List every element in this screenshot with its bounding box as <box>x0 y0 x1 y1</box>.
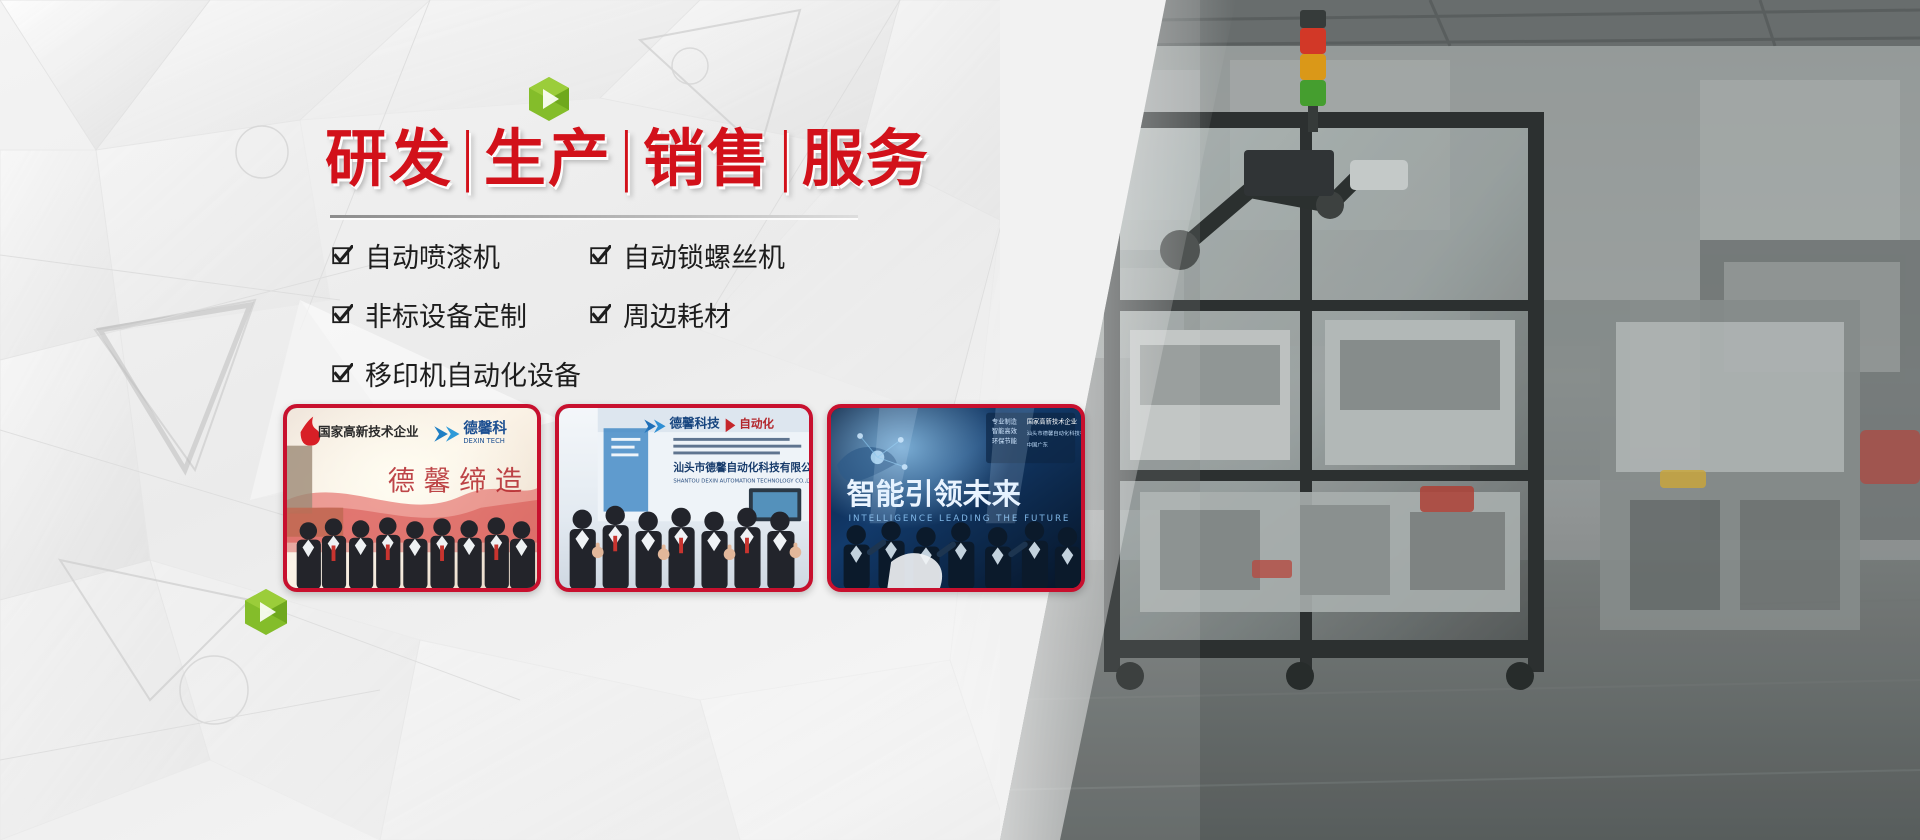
feature-label: 周边耗材 <box>623 295 731 334</box>
thumbnail-team-photo-exhibition-booth[interactable]: 德馨科技 自动化 汕头市德馨自动化科技有限公司 SHANTOU DEXIN AU… <box>555 404 813 592</box>
checkbox-checked-icon <box>590 245 611 266</box>
svg-text:自动化: 自动化 <box>739 416 774 430</box>
headline-segment-service: 服务 <box>802 122 930 195</box>
svg-text:汕头市德馨自动化科技有限公司: 汕头市德馨自动化科技有限公司 <box>1027 429 1081 437</box>
headline-separator-1: | <box>453 120 484 193</box>
list-item: 自动喷漆机 <box>332 236 590 275</box>
svg-text:中国广东: 中国广东 <box>1027 441 1048 449</box>
feature-label: 自动喷漆机 <box>365 236 500 275</box>
headline-separator-3: | <box>771 120 802 193</box>
headline-separator-2: | <box>612 120 643 193</box>
feature-list: 自动喷漆机 自动锁螺丝机 非标设备定制 <box>332 236 872 393</box>
page-title: 研发|生产|销售|服务 <box>325 128 865 190</box>
svg-text:国家高新技术企业: 国家高新技术企业 <box>1027 416 1077 425</box>
hexagon-play-marker-bottom <box>243 588 289 636</box>
headline-segment-rd: 研发 <box>325 122 453 195</box>
headline-block: 研发|生产|销售|服务 <box>325 128 865 190</box>
list-item: 移印机自动化设备 <box>332 354 590 393</box>
feature-label: 移印机自动化设备 <box>365 354 581 393</box>
feature-label: 自动锁螺丝机 <box>623 236 785 275</box>
svg-text:德馨科技: 德馨科技 <box>669 415 720 430</box>
checkbox-checked-icon <box>332 363 353 384</box>
svg-text:汕头市德馨自动化科技有限公司: 汕头市德馨自动化科技有限公司 <box>673 461 809 474</box>
headline-divider <box>330 215 858 218</box>
svg-text:DEXIN TECH: DEXIN TECH <box>463 437 505 445</box>
thumbnail-team-photo-conference-stage[interactable]: 专业制造 智能高效 环保节能 国家高新技术企业 汕头市德馨自动化科技有限公司 中… <box>827 404 1085 592</box>
hexagon-play-marker-top <box>527 76 571 122</box>
thumbnail-gallery: 国家高新技术企业 德馨科 DEXIN TECH 德 馨 缔 造 <box>283 404 1085 592</box>
checkbox-checked-icon <box>332 304 353 325</box>
checkbox-checked-icon <box>332 245 353 266</box>
list-item: 非标设备定制 <box>332 295 590 334</box>
headline-segment-production: 生产 <box>484 122 612 195</box>
headline-segment-sales: 销售 <box>643 122 771 195</box>
checkbox-checked-icon <box>590 304 611 325</box>
thumbnail-team-photo-award-wall[interactable]: 国家高新技术企业 德馨科 DEXIN TECH 德 馨 缔 造 <box>283 404 541 592</box>
list-item: 周边耗材 <box>590 295 848 334</box>
svg-text:德 馨 缔 造: 德 馨 缔 造 <box>388 466 522 497</box>
svg-text:SHANTOU DEXIN AUTOMATION TECHN: SHANTOU DEXIN AUTOMATION TECHNOLOGY CO.,… <box>673 478 809 484</box>
promo-banner: 研发|生产|销售|服务 自动喷漆机 自动锁螺丝机 <box>0 0 1920 840</box>
svg-text:国家高新技术企业: 国家高新技术企业 <box>318 424 419 439</box>
svg-text:德馨科: 德馨科 <box>463 419 507 437</box>
list-item: 自动锁螺丝机 <box>590 236 848 275</box>
feature-label: 非标设备定制 <box>365 295 527 334</box>
